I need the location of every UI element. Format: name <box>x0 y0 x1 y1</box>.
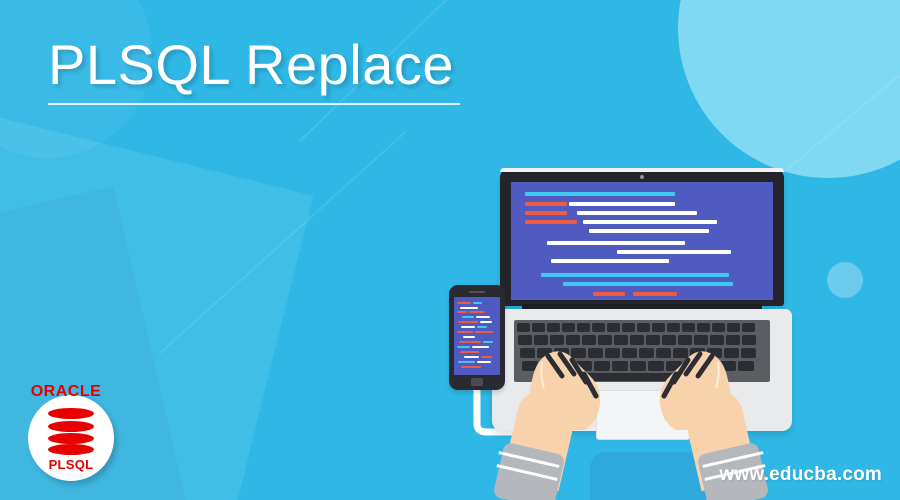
watermark-url: www.educba.com <box>719 464 882 486</box>
banner-canvas: PLSQL Replace ORACLE PLSQL <box>0 0 900 500</box>
speaker-grille-icon <box>469 291 485 293</box>
code-line <box>583 220 717 224</box>
code-line <box>577 211 697 215</box>
database-cylinder-icon <box>48 408 94 456</box>
title-underline <box>48 103 460 105</box>
code-line <box>458 321 478 323</box>
code-line <box>460 307 478 309</box>
code-line <box>458 361 475 363</box>
code-line <box>457 302 471 304</box>
code-line <box>525 220 577 224</box>
code-line <box>457 311 467 313</box>
left-hand <box>518 342 608 434</box>
code-line <box>525 192 675 196</box>
code-line <box>469 311 485 313</box>
code-line <box>461 326 475 328</box>
code-line <box>476 316 490 318</box>
code-line <box>460 351 479 353</box>
oracle-plsql-logo: ORACLE PLSQL <box>18 383 114 487</box>
webcam-dot-icon <box>640 175 644 179</box>
logo-oracle-text: ORACLE <box>18 383 114 401</box>
code-line <box>461 366 481 368</box>
code-line <box>593 292 625 296</box>
code-line <box>617 250 731 254</box>
code-line <box>633 292 677 296</box>
laptop-screen <box>511 182 773 300</box>
code-line <box>480 321 492 323</box>
code-line <box>589 229 709 233</box>
db-band <box>48 444 94 455</box>
code-line <box>569 202 675 206</box>
code-line <box>563 282 733 286</box>
db-band <box>48 408 94 419</box>
code-line <box>477 361 491 363</box>
code-line <box>547 241 685 245</box>
code-line <box>551 259 669 263</box>
code-line <box>525 202 567 206</box>
home-button-icon[interactable] <box>471 378 483 386</box>
code-line <box>463 336 475 338</box>
code-line <box>462 316 474 318</box>
code-line <box>541 273 729 277</box>
page-title: PLSQL Replace <box>48 36 460 95</box>
laptop-lid-edge <box>500 168 784 172</box>
decorative-circle-small <box>827 262 863 298</box>
code-line <box>525 211 567 215</box>
decorative-circle-top-right <box>678 0 900 178</box>
db-band <box>48 433 94 444</box>
code-line <box>459 341 481 343</box>
code-line <box>457 331 473 333</box>
code-line <box>457 346 470 348</box>
code-line <box>473 302 482 304</box>
title-block: PLSQL Replace <box>48 36 460 105</box>
right-hand <box>652 342 742 434</box>
code-line <box>464 356 479 358</box>
code-line <box>477 326 487 328</box>
db-band <box>48 421 94 432</box>
logo-plsql-text: PLSQL <box>28 457 114 472</box>
code-line <box>472 346 489 348</box>
